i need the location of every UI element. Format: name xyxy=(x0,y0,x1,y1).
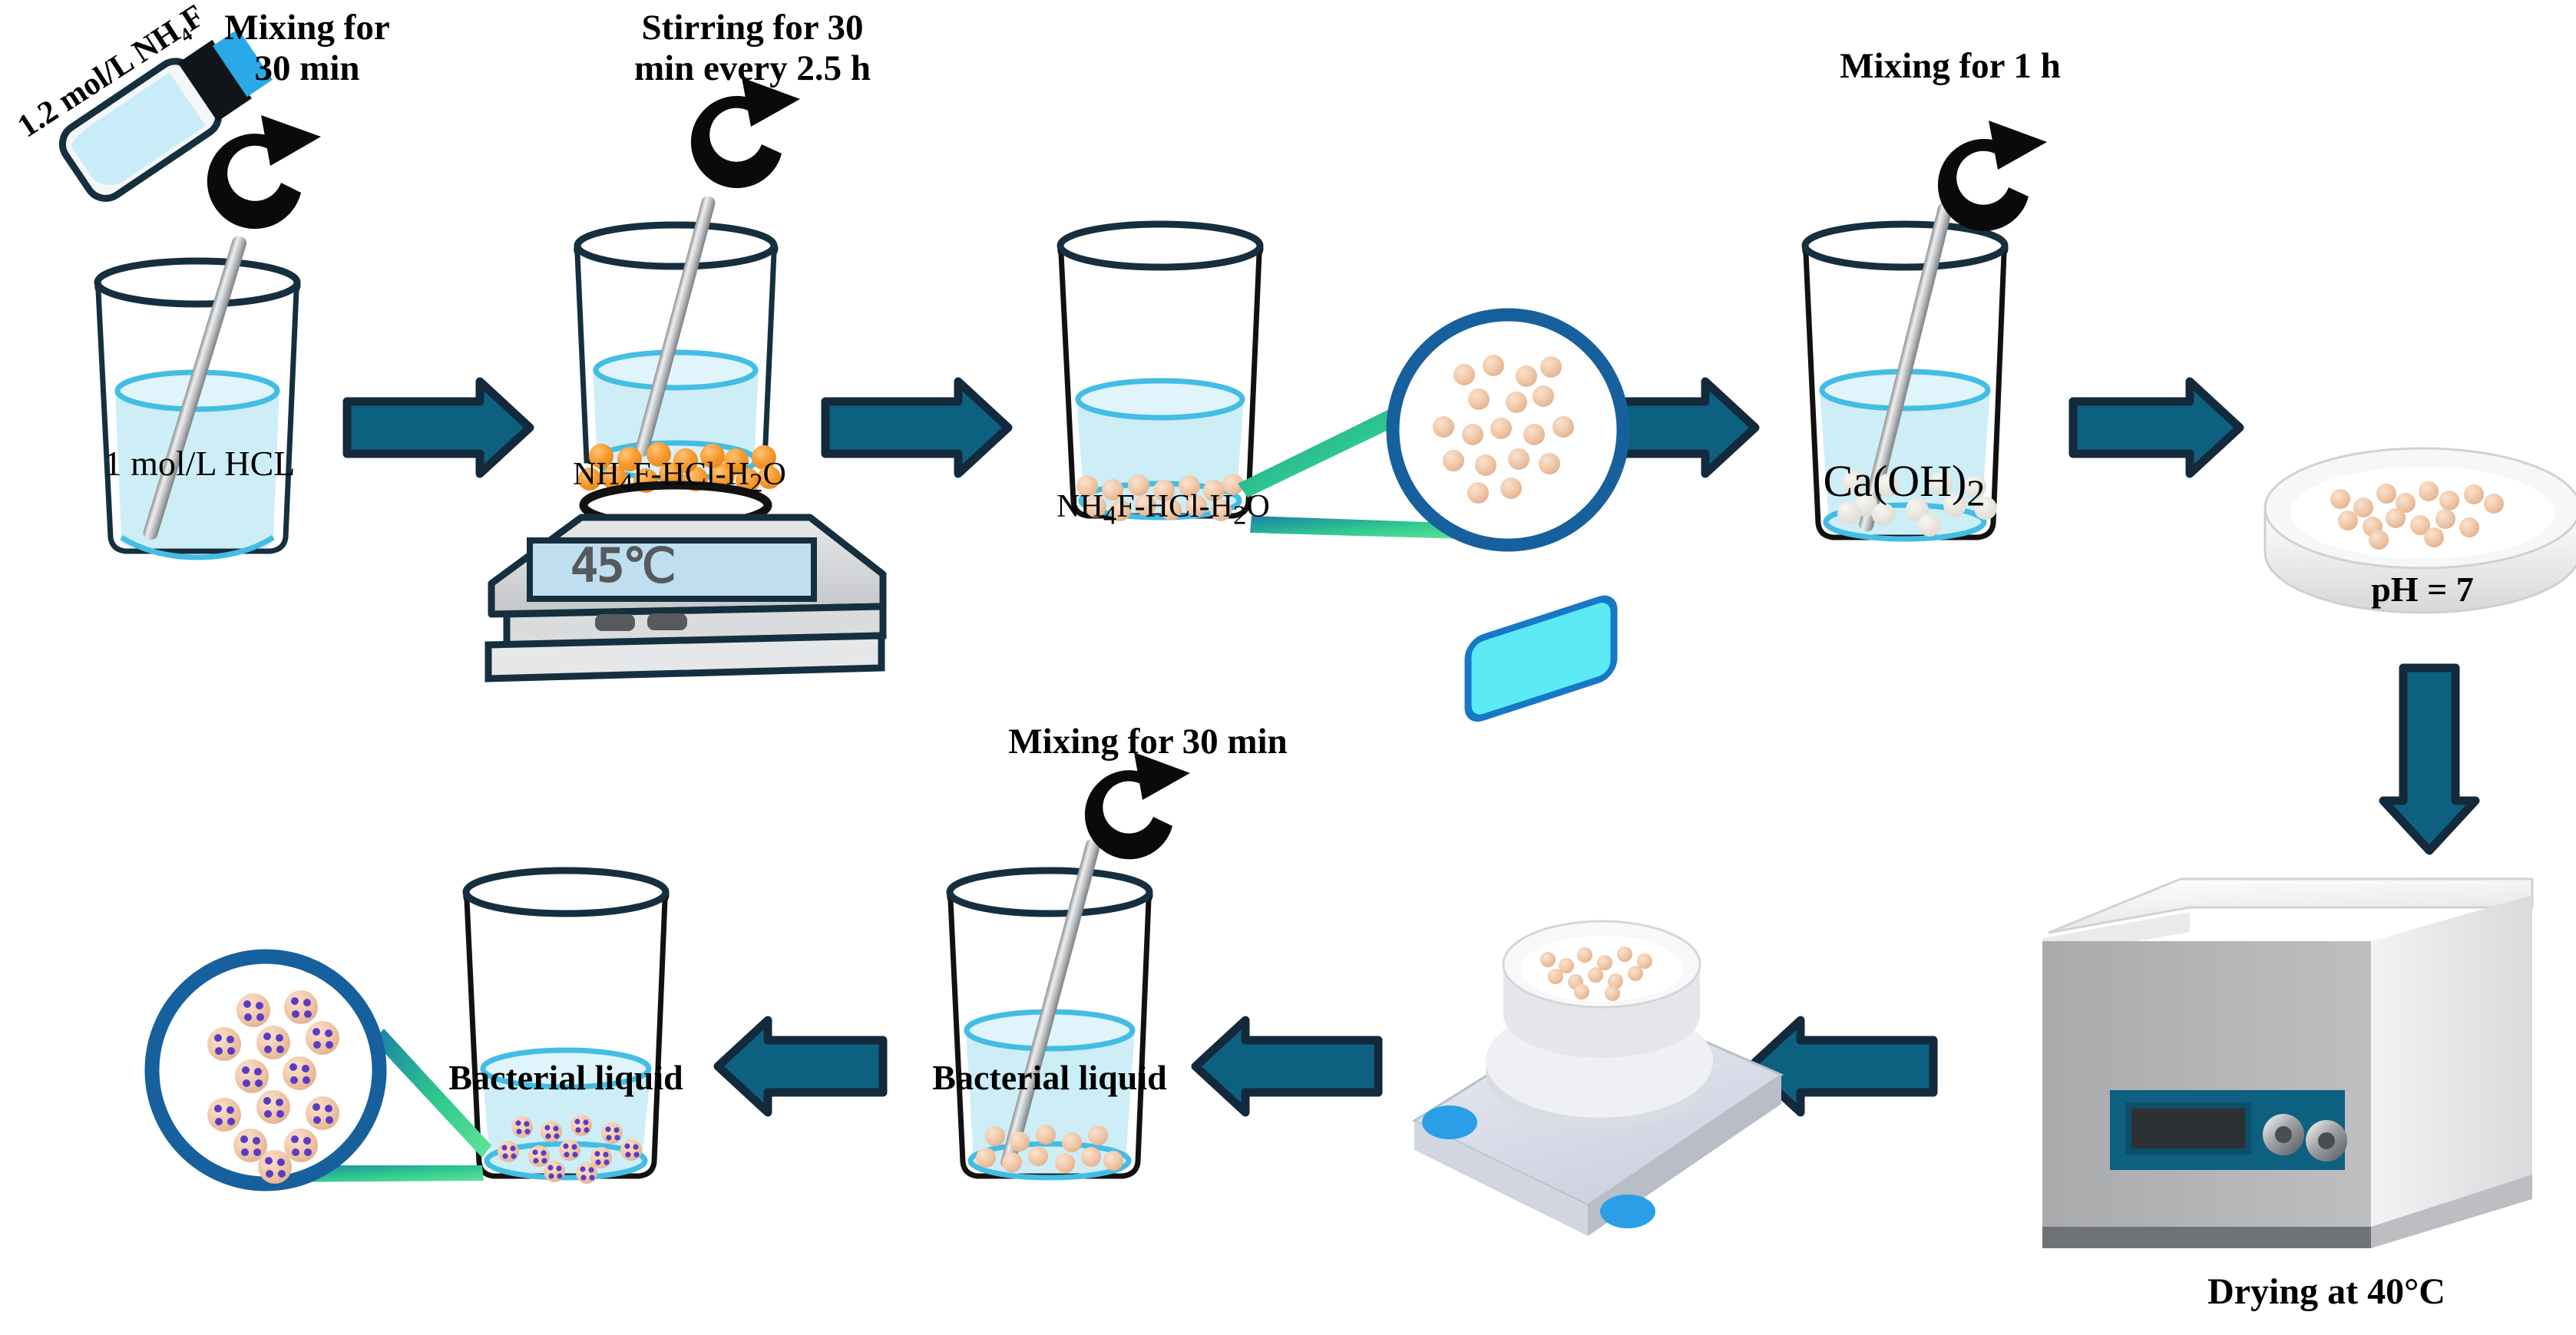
magnifier-step3 xyxy=(1238,315,1623,545)
beaker6-label: Bacterial liquid xyxy=(424,1058,708,1098)
arrow-step2-to-step3 xyxy=(825,382,1008,474)
arrow-petri-to-oven xyxy=(2383,668,2475,851)
step2-caption: Stirring for 30 min every 2.5 h xyxy=(607,8,898,88)
step8-caption: Mixing for 30 min xyxy=(971,722,1324,762)
rotation-arrow-step4 xyxy=(1938,121,2047,231)
step1-caption: Mixing for 30 min xyxy=(192,8,422,88)
oven-display xyxy=(2128,1105,2248,1152)
formula-part: F-HCl-H xyxy=(1116,489,1233,524)
beaker3-label: NH4F-HCl-H2O xyxy=(1040,453,1286,530)
formula-part: NH xyxy=(573,457,620,492)
step4-caption: Mixing for 1 h xyxy=(1789,46,2111,87)
arrow-balance-to-bacteria-beaker xyxy=(1195,1020,1378,1112)
step1-acid-beaker xyxy=(98,235,298,557)
oven-caption: Drying at 40°C xyxy=(2142,1271,2511,1313)
step9-loaded-beaker xyxy=(466,871,666,1184)
arrow-step4-to-petri xyxy=(2073,382,2240,474)
formula-sub: 2 xyxy=(1233,500,1247,530)
formula-sub: 4 xyxy=(620,468,633,497)
formula-part: NH xyxy=(1057,489,1103,524)
beaker4-label: Ca(OH)2 xyxy=(1789,407,2019,515)
hotplate-temperature: 45℃ xyxy=(537,539,706,592)
rotation-arrow-step8 xyxy=(1085,752,1190,859)
rotation-arrow-step2 xyxy=(691,78,800,188)
formula-part: O xyxy=(763,457,786,492)
diagram-canvas xyxy=(0,0,2576,1335)
ph-caption: pH = 7 xyxy=(2311,570,2534,610)
rotation-arrow-step1 xyxy=(207,115,321,229)
step8-bacteria-beaker xyxy=(950,838,1150,1178)
formula-sub: 2 xyxy=(1966,474,1985,514)
beaker2-label: NH4F-HCl-H2O xyxy=(561,421,799,498)
formula-part: O xyxy=(1247,489,1270,524)
arrow-bacteria-to-loaded-beaker xyxy=(718,1020,883,1112)
formula-sub: 4 xyxy=(1103,500,1117,530)
formula-sub: 2 xyxy=(749,468,763,497)
formula-part: Ca(OH) xyxy=(1823,456,1966,506)
arrow-step1-to-step2 xyxy=(347,382,530,474)
step6-drying-oven xyxy=(2042,879,2532,1248)
balance-button-right xyxy=(1600,1195,1655,1228)
balance-lcd xyxy=(1468,595,1614,722)
petri-dish-on-balance xyxy=(1503,921,1700,1058)
formula-part: F-HCl-H xyxy=(633,457,749,492)
beaker1-label: 1 mol/L HCL xyxy=(88,444,311,484)
step7-analytical-balance xyxy=(1414,595,1781,1236)
beaker5-label: Bacterial liquid xyxy=(908,1058,1192,1098)
process-flow-diagram: 1.2 mol/L NH₄F Mixing for 30 min Stirrin… xyxy=(0,0,2576,1335)
balance-button-left xyxy=(1422,1105,1477,1139)
